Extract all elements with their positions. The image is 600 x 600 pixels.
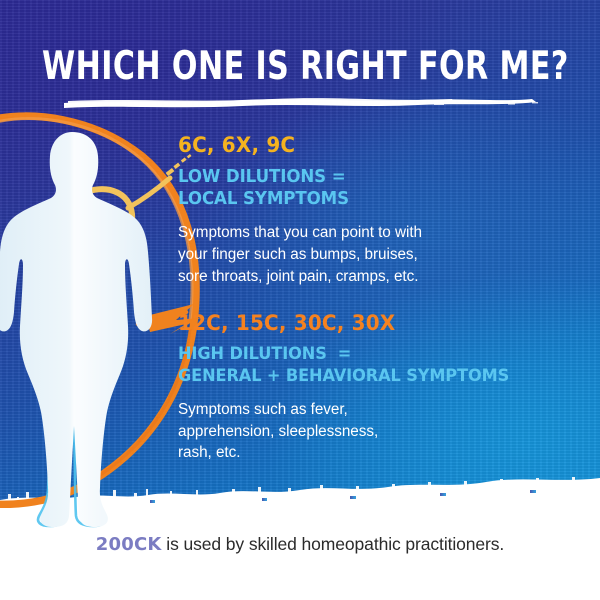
subheading-high: HIGH DILUTIONS = GENERAL + BEHAVIORAL SY… <box>178 344 558 387</box>
dose-label-low: 6C, 6X, 9C <box>178 134 558 157</box>
subheading-low: LOW DILUTIONS = LOCAL SYMPTOMS <box>178 166 558 210</box>
section-low-dilutions: 6C, 6X, 9C LOW DILUTIONS = LOCAL SYMPTOM… <box>178 134 578 287</box>
section-high-dilutions: 12C, 15C, 30C, 30X HIGH DILUTIONS = GENE… <box>178 312 578 464</box>
dose-label-high: 12C, 15C, 30C, 30X <box>178 312 558 335</box>
footer-note: 200CK is used by skilled homeopathic pra… <box>0 534 600 555</box>
footer-potency-label: 200CK <box>96 534 162 555</box>
infographic-poster: WHICH ONE IS RIGHT FOR ME? <box>0 0 600 600</box>
footer-note-text: is used by skilled homeopathic practitio… <box>162 534 505 554</box>
page-title: WHICH ONE IS RIGHT FOR ME? <box>42 44 558 89</box>
body-text-low: Symptoms that you can point to with your… <box>178 222 578 287</box>
body-text-high: Symptoms such as fever, apprehension, sl… <box>178 399 578 464</box>
